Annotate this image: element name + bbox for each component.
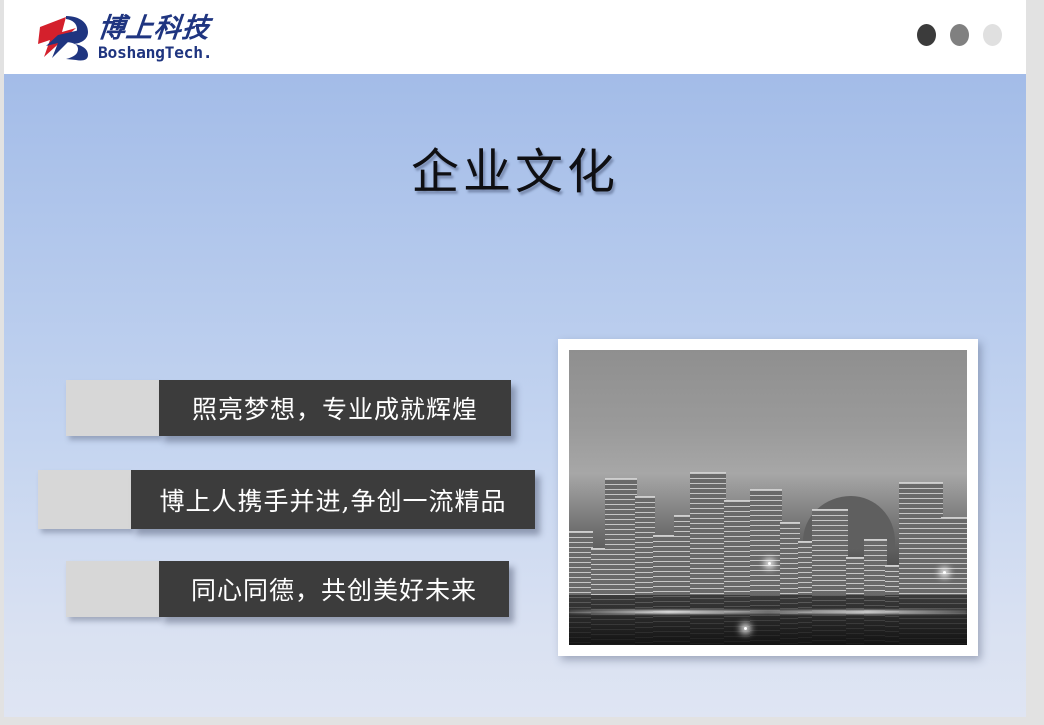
slide-root: 博上科技 BoshangTech. 企业文化 照亮梦想，专业成就辉煌: [0, 0, 1044, 725]
page-title: 企业文化: [4, 132, 1026, 202]
slogan-row: 照亮梦想，专业成就辉煌: [66, 380, 511, 436]
city-skyline-night-photo[interactable]: [558, 339, 978, 656]
slogan-row: 同心同德，共创美好未来: [66, 561, 509, 617]
logo-wordmark: 博上科技 BoshangTech.: [98, 15, 210, 61]
dot-medium-icon[interactable]: [950, 24, 969, 46]
slogan-chip: [38, 470, 131, 529]
header-bar: 博上科技 BoshangTech.: [4, 0, 1026, 74]
photo-image: [569, 350, 967, 645]
logo-chinese-name: 博上科技: [97, 15, 212, 42]
slogan-text: 照亮梦想，专业成就辉煌: [192, 390, 478, 426]
brand-logo[interactable]: 博上科技 BoshangTech.: [36, 8, 266, 68]
slogan-chip: [66, 561, 159, 617]
slogan-bar[interactable]: 同心同德，共创美好未来: [159, 561, 509, 617]
slogan-bar[interactable]: 博上人携手并进,争创一流精品: [131, 470, 535, 529]
slogan-text: 同心同德，共创美好未来: [191, 571, 477, 607]
logo-english-name: BoshangTech.: [98, 45, 212, 61]
road-light-trail: [569, 610, 967, 614]
slide-body: 企业文化 照亮梦想，专业成就辉煌 博上人携手并进,争创一流精品 同心同德，共创: [4, 74, 1026, 717]
dot-light-icon[interactable]: [983, 24, 1002, 46]
ground-strip: [569, 595, 967, 645]
slogan-chip: [66, 380, 159, 436]
boshang-logo-mark: [36, 13, 92, 63]
slogan-row: 博上人携手并进,争创一流精品: [38, 470, 535, 529]
slide-canvas: 博上科技 BoshangTech. 企业文化 照亮梦想，专业成就辉煌: [4, 0, 1026, 717]
slogan-bar[interactable]: 照亮梦想，专业成就辉煌: [159, 380, 511, 436]
header-dot-group: [917, 24, 1002, 46]
slogan-text: 博上人携手并进,争创一流精品: [160, 482, 507, 518]
dot-dark-icon[interactable]: [917, 24, 936, 46]
